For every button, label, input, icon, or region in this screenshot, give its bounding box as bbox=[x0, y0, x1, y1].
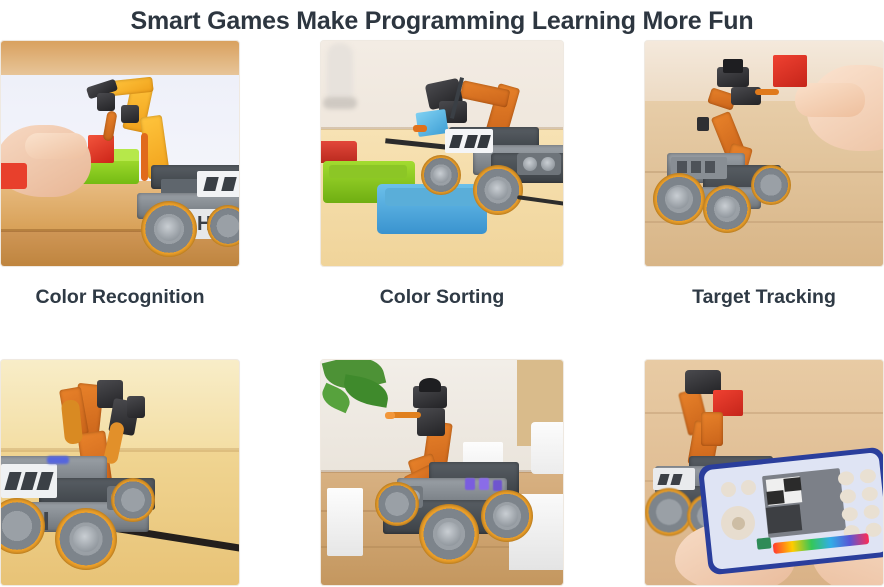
feature-grid: H Color Recognition bbox=[0, 40, 884, 587]
photo-color-recognition: H bbox=[1, 41, 239, 266]
photo-frame-remote-control[interactable] bbox=[644, 359, 884, 586]
photo-color-sorting bbox=[321, 41, 563, 266]
photo-target-tracking bbox=[645, 41, 883, 266]
photo-frame-color-sorting[interactable] bbox=[320, 40, 564, 267]
photo-remote-control bbox=[645, 360, 883, 585]
photo-obstacle-avoidance bbox=[321, 360, 563, 585]
feature-item-color-sorting[interactable]: Color Sorting bbox=[320, 40, 564, 308]
photo-frame-obstacle-avoidance[interactable] bbox=[320, 359, 564, 586]
feature-item-obstacle-avoidance[interactable]: Obstacle Avoidance bbox=[320, 359, 564, 587]
feature-item-line-following[interactable]: H Line Following bbox=[0, 359, 240, 587]
photo-frame-target-tracking[interactable] bbox=[644, 40, 884, 267]
product-feature-page: Smart Games Make Programming Learning Mo… bbox=[0, 0, 884, 587]
photo-line-following: H bbox=[1, 360, 239, 585]
feature-caption-target-tracking: Target Tracking bbox=[692, 288, 836, 308]
photo-frame-line-following[interactable]: H bbox=[0, 359, 240, 586]
feature-item-color-recognition[interactable]: H Color Recognition bbox=[0, 40, 240, 308]
feature-caption-color-sorting: Color Sorting bbox=[380, 288, 505, 308]
feature-row-1: H Color Recognition bbox=[0, 40, 884, 308]
photo-frame-color-recognition[interactable]: H bbox=[0, 40, 240, 267]
feature-caption-color-recognition: Color Recognition bbox=[36, 288, 205, 308]
page-title: Smart Games Make Programming Learning Mo… bbox=[0, 0, 884, 40]
feature-row-2: H Line Following bbox=[0, 359, 884, 587]
feature-item-remote-control[interactable]: Remote Control bbox=[644, 359, 884, 587]
feature-item-target-tracking[interactable]: Target Tracking bbox=[644, 40, 884, 308]
